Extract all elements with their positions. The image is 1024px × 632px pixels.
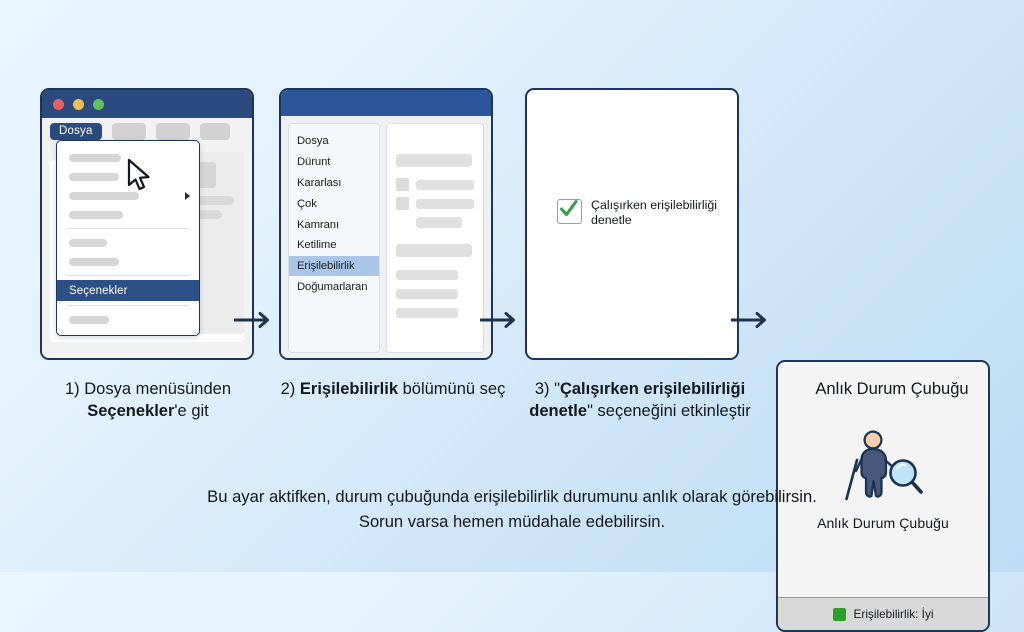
content-bar (396, 244, 472, 257)
caption-step-4: Anlık Durum Çubuğu (762, 378, 1022, 400)
step1-window-panel: Dosya Seçenekler (40, 88, 254, 360)
menu-chip[interactable] (156, 123, 190, 140)
window-titlebar (42, 90, 252, 118)
captions-row: 1) Dosya menüsünden Seçenekler'e git 2) … (0, 378, 1024, 458)
nav-item-cok[interactable]: Çok (289, 193, 379, 214)
dropdown-item[interactable] (57, 310, 199, 329)
steps-panel-row: Dosya Seçenekler (0, 88, 1024, 366)
menu-chip[interactable] (112, 123, 146, 140)
dropdown-separator (67, 228, 189, 229)
settings-body: Dosya Dürunt Kararlası Çok Kamranı Ketil… (281, 116, 491, 360)
content-checkbox[interactable] (396, 178, 409, 191)
status-bar[interactable]: Erişilebilirlik: İyi (778, 597, 988, 630)
footer-line-2: Sorun varsa hemen müdahale edebilirsin. (0, 509, 1024, 534)
content-bar (396, 154, 472, 167)
caption-step-1: 1) Dosya menüsünden Seçenekler'e git (18, 378, 278, 422)
content-bar (416, 199, 474, 209)
nav-item-kamrani[interactable]: Kamranı (289, 214, 379, 235)
status-green-indicator-icon (833, 608, 846, 621)
arrow-step2-to-step3-icon (480, 310, 524, 330)
content-bar (416, 217, 462, 228)
status-bar-text: Erişilebilirlik: İyi (854, 607, 934, 621)
menu-chip[interactable] (200, 123, 230, 140)
nav-item-erisilebilirlik[interactable]: Erişilebilirlik (289, 256, 379, 277)
close-dot-icon[interactable] (53, 99, 64, 110)
caption-step-3: 3) "Çalışırken erişilebilirliği denetle"… (510, 378, 770, 422)
content-bar (396, 289, 458, 299)
caption-step-2: 2) Erişilebilirlik bölümünü seç (263, 378, 523, 400)
window-body: Dosya Seçenekler (42, 118, 252, 360)
checkbox-row[interactable]: Çalışırken erişilebilirliği denetle (557, 198, 737, 227)
content-bar (396, 308, 458, 318)
mouse-cursor-icon (126, 158, 156, 194)
arrow-step3-to-step4-icon (731, 310, 775, 330)
dropdown-item-secenekler[interactable]: Seçenekler (57, 280, 199, 301)
step2-settings-panel: Dosya Dürunt Kararlası Çok Kamranı Ketil… (279, 88, 493, 360)
dropdown-item[interactable] (57, 233, 199, 252)
footer-description: Bu ayar aktifken, durum çubuğunda erişil… (0, 484, 1024, 534)
minimize-dot-icon[interactable] (73, 99, 84, 110)
nav-item-kararlasi[interactable]: Kararlası (289, 173, 379, 194)
nav-item-dosya[interactable]: Dosya (289, 131, 379, 152)
maximize-dot-icon[interactable] (93, 99, 104, 110)
dropdown-item[interactable] (57, 252, 199, 271)
step3-checkbox-panel: Çalışırken erişilebilirliği denetle (525, 88, 739, 360)
chevron-right-icon (185, 192, 190, 200)
settings-content-pane (386, 123, 484, 353)
checkbox-label: Çalışırken erişilebilirliği denetle (591, 198, 737, 227)
footer-line-1: Bu ayar aktifken, durum çubuğunda erişil… (0, 484, 1024, 509)
settings-nav-list[interactable]: Dosya Dürunt Kararlası Çok Kamranı Ketil… (288, 123, 380, 353)
menu-item-dosya[interactable]: Dosya (50, 123, 102, 140)
checkmark-icon (557, 197, 580, 220)
arrow-step1-to-step2-icon (234, 310, 278, 330)
nav-item-dogumarlaran[interactable]: Doğumarlaran (289, 276, 379, 297)
content-bar (396, 270, 458, 280)
content-checkbox[interactable] (396, 197, 409, 210)
nav-item-durunt[interactable]: Dürunt (289, 152, 379, 173)
content-bar (416, 180, 474, 190)
settings-titlebar (281, 90, 491, 116)
calisirken-denetle-checkbox[interactable] (557, 199, 582, 224)
dropdown-separator (67, 305, 189, 306)
dropdown-item[interactable] (57, 205, 199, 224)
nav-item-ketilime[interactable]: Ketilime (289, 235, 379, 256)
dropdown-separator (67, 275, 189, 276)
